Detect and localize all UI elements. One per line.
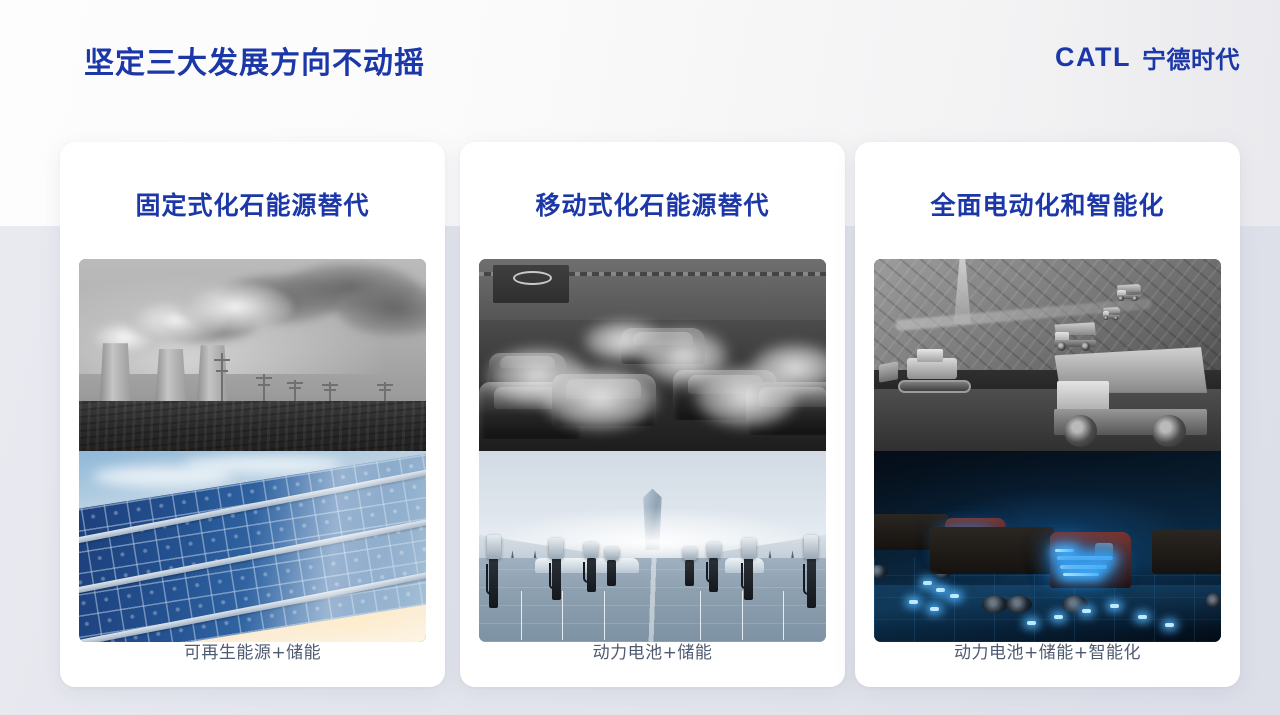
catl-logo-wordmark: CATL: [1055, 42, 1131, 73]
catl-logo-chinese: 宁德时代: [1142, 40, 1240, 75]
card-title: 固定式化石能源替代: [60, 186, 445, 222]
card-media: [479, 259, 826, 642]
image-ev-charging-plaza: [479, 451, 826, 643]
image-open-pit-mining: [874, 259, 1221, 451]
image-traffic-exhaust: [479, 259, 826, 451]
card-mobile-fossil-replacement[interactable]: 移动式化石能源替代: [460, 142, 845, 687]
card-caption: 可再生能源+储能: [60, 638, 445, 663]
card-caption: 动力电池+储能+智能化: [855, 638, 1240, 663]
image-solar-panels: [79, 451, 426, 643]
image-electric-smart-trucks: [874, 451, 1221, 643]
slide-header: 坚定三大发展方向不动摇 CATL 宁德时代: [0, 0, 1280, 115]
image-coal-power-plant: [79, 259, 426, 451]
card-caption: 动力电池+储能: [460, 638, 845, 663]
card-media: [874, 259, 1221, 642]
page-title: 坚定三大发展方向不动摇: [84, 38, 425, 82]
catl-logo: CATL 宁德时代: [1055, 40, 1240, 75]
card-title: 移动式化石能源替代: [460, 186, 845, 222]
card-full-electrification-intelligence[interactable]: 全面电动化和智能化: [855, 142, 1240, 687]
card-title: 全面电动化和智能化: [855, 186, 1240, 222]
card-stationary-fossil-replacement[interactable]: 固定式化石能源替代: [60, 142, 445, 687]
card-media: [79, 259, 426, 642]
